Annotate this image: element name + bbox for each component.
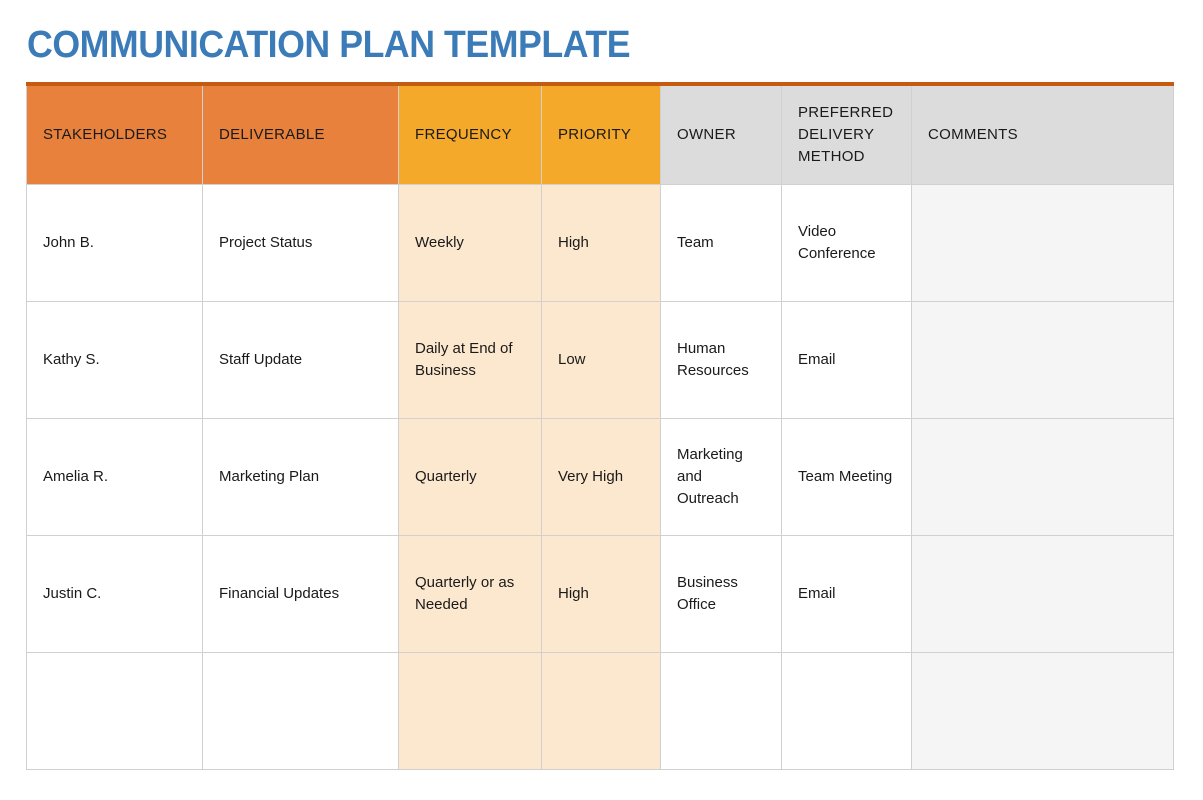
cell-owner[interactable]: Business Office [661, 536, 782, 653]
column-header-owner[interactable]: OWNER [661, 84, 782, 185]
header-row: STAKEHOLDERS DELIVERABLE FREQUENCY PRIOR… [27, 84, 1174, 185]
cell-priority[interactable]: Low [542, 302, 661, 419]
column-header-frequency[interactable]: FREQUENCY [399, 84, 542, 185]
cell-text: High [558, 583, 644, 605]
cell-text: Email [798, 583, 895, 605]
cell-priority[interactable] [542, 653, 661, 770]
cell-text: John B. [43, 232, 186, 254]
cell-frequency[interactable]: Daily at End of Business [399, 302, 542, 419]
cell-deliverable[interactable]: Staff Update [203, 302, 399, 419]
cell-text: Video Conference [798, 221, 895, 265]
cell-comments[interactable] [912, 185, 1174, 302]
cell-owner[interactable] [661, 653, 782, 770]
cell-frequency[interactable] [399, 653, 542, 770]
cell-text: Team Meeting [798, 466, 895, 488]
cell-owner[interactable]: Human Resources [661, 302, 782, 419]
cell-method[interactable]: Email [782, 302, 912, 419]
table-row [27, 653, 1174, 770]
page-title: COMMUNICATION PLAN TEMPLATE [27, 22, 630, 68]
table-row: Amelia R. Marketing Plan Quarterly Very … [27, 419, 1174, 536]
cell-deliverable[interactable] [203, 653, 399, 770]
cell-text: Daily at End of Business [415, 338, 525, 382]
cell-owner[interactable]: Team [661, 185, 782, 302]
cell-frequency[interactable]: Weekly [399, 185, 542, 302]
cell-comments[interactable] [912, 653, 1174, 770]
cell-text: High [558, 232, 644, 254]
cell-stakeholders[interactable]: John B. [27, 185, 203, 302]
column-header-deliverable[interactable]: DELIVERABLE [203, 84, 399, 185]
cell-owner[interactable]: Marketing and Outreach [661, 419, 782, 536]
cell-stakeholders[interactable]: Justin C. [27, 536, 203, 653]
cell-text: Email [798, 349, 895, 371]
cell-text: Human Resources [677, 338, 765, 382]
cell-stakeholders[interactable] [27, 653, 203, 770]
table-header: STAKEHOLDERS DELIVERABLE FREQUENCY PRIOR… [27, 84, 1174, 185]
document-page: COMMUNICATION PLAN TEMPLATE STAKEHOLDERS… [0, 0, 1203, 800]
cell-frequency[interactable]: Quarterly or as Needed [399, 536, 542, 653]
cell-text: Weekly [415, 232, 525, 254]
cell-text: Marketing and Outreach [677, 444, 765, 510]
cell-priority[interactable]: Very High [542, 419, 661, 536]
cell-text: Quarterly or as Needed [415, 572, 525, 616]
table-body: John B. Project Status Weekly High Team … [27, 185, 1174, 770]
cell-priority[interactable]: High [542, 536, 661, 653]
cell-text: Low [558, 349, 644, 371]
cell-text: Financial Updates [219, 583, 382, 605]
cell-text: Very High [558, 466, 644, 488]
cell-comments[interactable] [912, 302, 1174, 419]
cell-comments[interactable] [912, 536, 1174, 653]
cell-deliverable[interactable]: Project Status [203, 185, 399, 302]
cell-stakeholders[interactable]: Amelia R. [27, 419, 203, 536]
cell-method[interactable]: Team Meeting [782, 419, 912, 536]
cell-method[interactable]: Video Conference [782, 185, 912, 302]
cell-text: Staff Update [219, 349, 382, 371]
column-header-stakeholders[interactable]: STAKEHOLDERS [27, 84, 203, 185]
column-header-priority[interactable]: PRIORITY [542, 84, 661, 185]
cell-text: Marketing Plan [219, 466, 382, 488]
cell-text: Team [677, 232, 765, 254]
cell-stakeholders[interactable]: Kathy S. [27, 302, 203, 419]
cell-method[interactable] [782, 653, 912, 770]
cell-text: Amelia R. [43, 466, 186, 488]
communication-plan-table: STAKEHOLDERS DELIVERABLE FREQUENCY PRIOR… [26, 82, 1174, 770]
communication-plan-table-wrapper: STAKEHOLDERS DELIVERABLE FREQUENCY PRIOR… [26, 82, 1173, 770]
cell-text: Quarterly [415, 466, 525, 488]
column-header-preferred-delivery-method[interactable]: PREFERRED DELIVERY METHOD [782, 84, 912, 185]
cell-frequency[interactable]: Quarterly [399, 419, 542, 536]
cell-text: Justin C. [43, 583, 186, 605]
column-header-comments[interactable]: COMMENTS [912, 84, 1174, 185]
cell-comments[interactable] [912, 419, 1174, 536]
table-row: John B. Project Status Weekly High Team … [27, 185, 1174, 302]
cell-text: Business Office [677, 572, 765, 616]
table-row: Justin C. Financial Updates Quarterly or… [27, 536, 1174, 653]
table-row: Kathy S. Staff Update Daily at End of Bu… [27, 302, 1174, 419]
cell-text: Project Status [219, 232, 382, 254]
cell-text: Kathy S. [43, 349, 186, 371]
cell-deliverable[interactable]: Financial Updates [203, 536, 399, 653]
cell-deliverable[interactable]: Marketing Plan [203, 419, 399, 536]
cell-method[interactable]: Email [782, 536, 912, 653]
cell-priority[interactable]: High [542, 185, 661, 302]
